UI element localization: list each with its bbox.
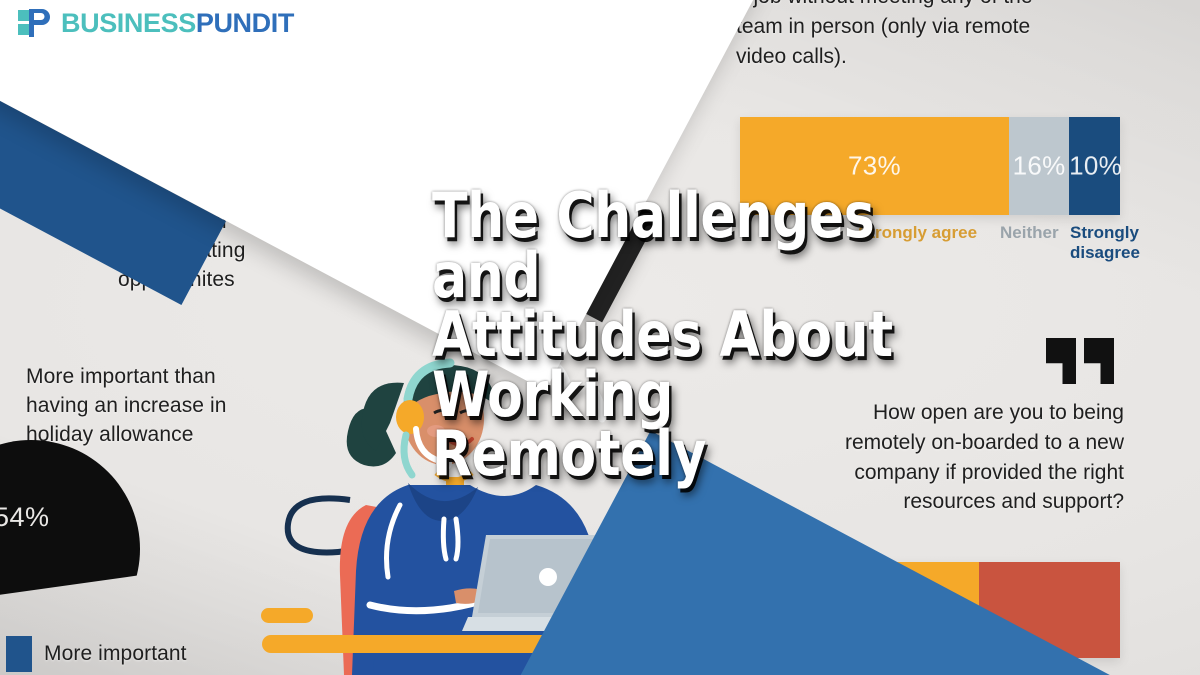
- desk: [262, 635, 666, 653]
- stat-more-important-text: More important: [44, 640, 294, 669]
- pie-chart-value: 54%: [0, 502, 50, 533]
- laptop-base: [462, 617, 628, 631]
- bar-segment-open: 64%: [740, 562, 979, 658]
- logo-word-business: BUSINESS: [61, 8, 196, 38]
- legs: [373, 655, 545, 675]
- bar-value-strongly-disagree: 10%: [1069, 151, 1120, 182]
- top-chart-question: a job without meeting any of the team in…: [736, 0, 1128, 71]
- legend-swatch-blue: [6, 636, 32, 672]
- bar-value-strongly-agree: 73%: [740, 151, 1009, 182]
- logo-word-pundit: PUNDIT: [196, 8, 294, 38]
- bar-segment-strongly-disagree: 10%: [1069, 117, 1120, 215]
- bar-value-neither: 16%: [1009, 151, 1069, 182]
- bar-segment-neither: 16%: [1009, 117, 1069, 215]
- headphone-cup: [396, 400, 424, 434]
- stat-holiday-allowance-text: More important than having an increase i…: [26, 363, 296, 450]
- brand-logo[interactable]: BUSINESSPUNDIT: [16, 7, 294, 39]
- legend-label-neither: Neither: [1000, 223, 1059, 243]
- quotation-mark-icon: [1046, 338, 1122, 384]
- stat-prestige-text: important than working for a prestigious…: [300, 62, 570, 149]
- bar-segment-other: [979, 562, 1120, 658]
- legend-label-strongly-disagree: Strongly disagree: [1070, 223, 1150, 264]
- brand-logo-text: BUSINESSPUNDIT: [61, 8, 294, 39]
- infographic-canvas: important than working for a prestigious…: [0, 0, 1200, 675]
- page-title: The Challenges and Attitudes About Worki…: [432, 186, 919, 484]
- bottom-bar-chart: 64%: [740, 562, 1120, 658]
- bar-value-open: 64%: [740, 595, 979, 626]
- bp-monogram-icon: [16, 7, 52, 39]
- stat-key-factor-text: A key factor for evaluating opportunites: [118, 208, 338, 295]
